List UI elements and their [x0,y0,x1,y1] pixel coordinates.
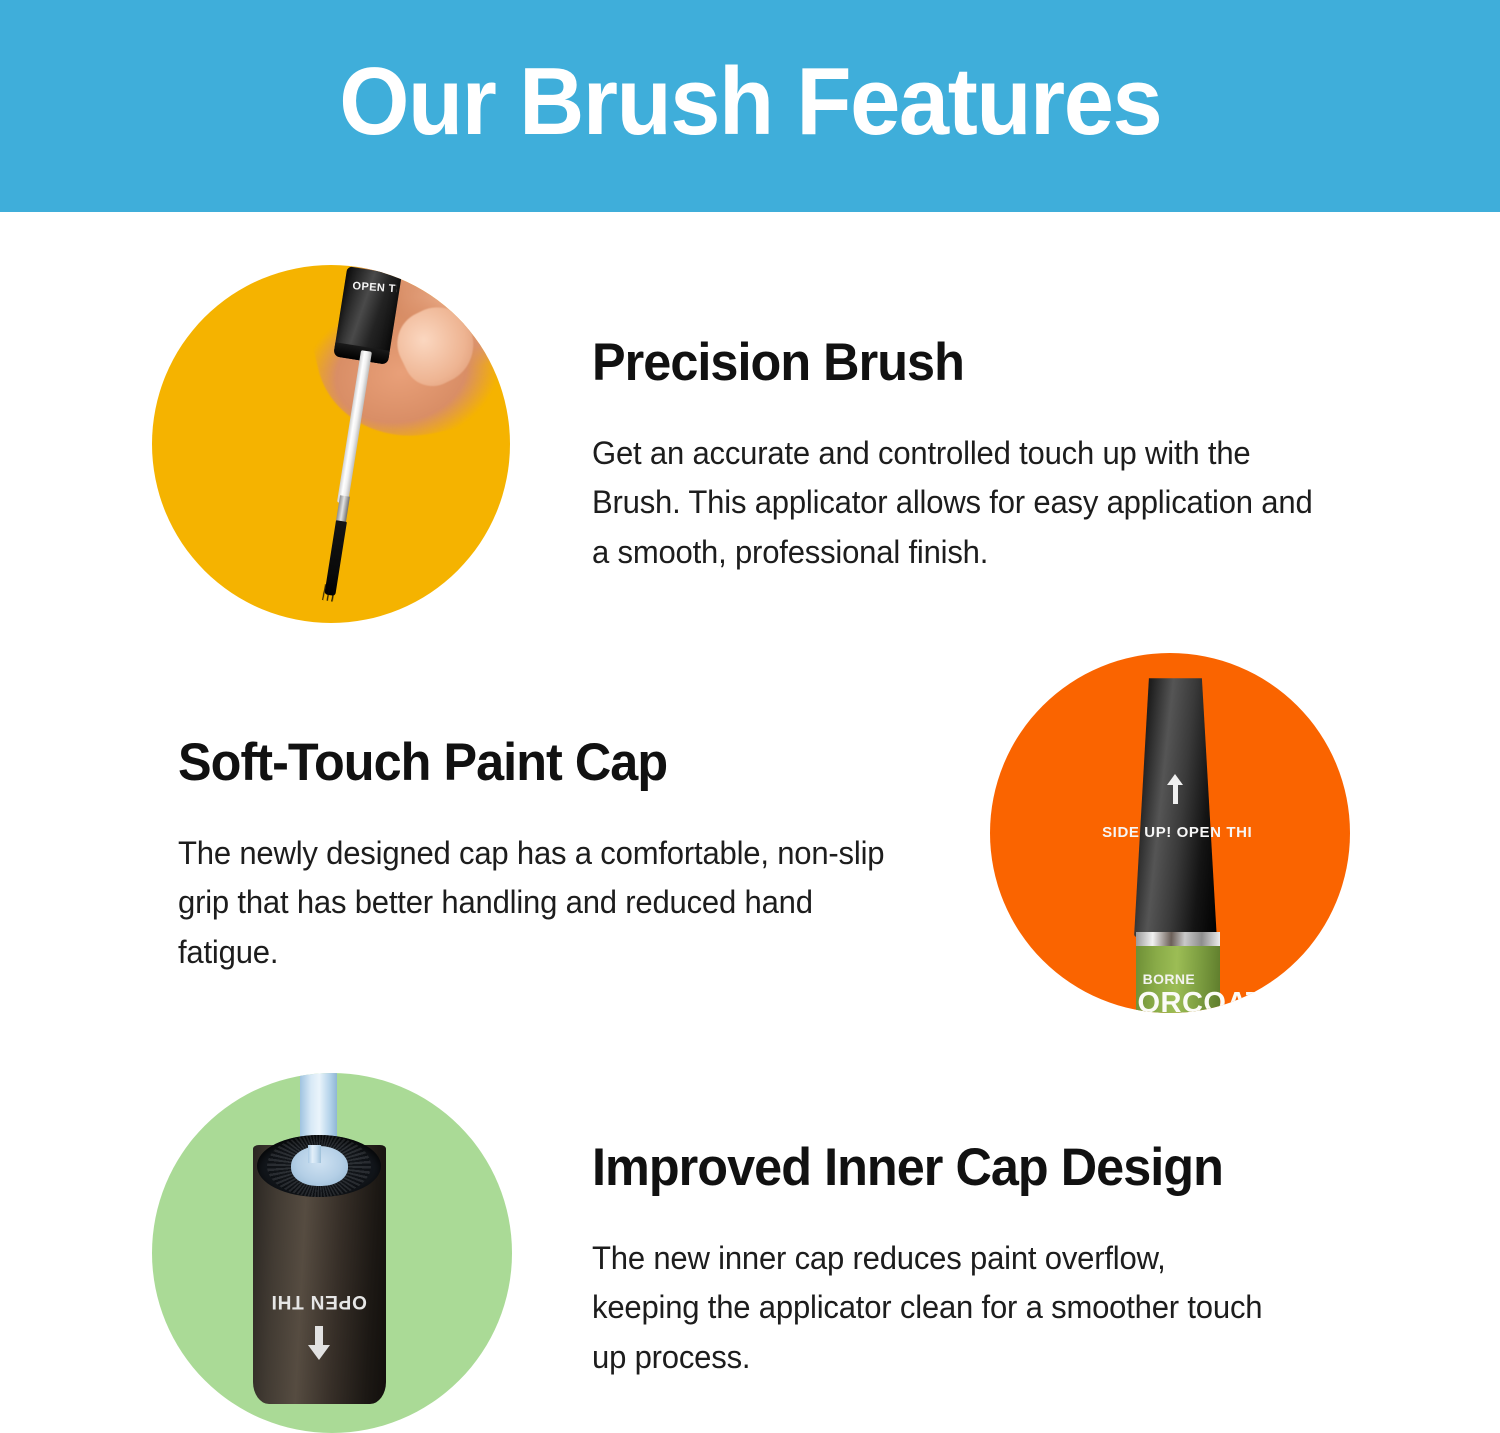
feature-title-precision-brush: Precision Brush [592,335,1314,391]
feature-body-precision-brush: Get an accurate and controlled touch up … [592,429,1329,578]
pen-label-product-text: ORCOAT [1137,987,1264,1013]
brush-applicator-in-hand-photo: OPEN THIS [152,265,510,623]
inverted-cap-body: OPEN THIS [253,1145,386,1404]
feature-title-soft-touch-paint-cap: Soft-Touch Paint Cap [178,735,900,791]
precision-brush-text-block: Precision Brush Get an accurate and cont… [592,335,1352,577]
cap-mouth-opening [257,1135,381,1197]
cap-label-text: OPEN THIS [352,280,397,295]
pen-label-brand-text: BORNE [1143,971,1196,987]
hand-shape [288,265,510,455]
page-header-banner: Our Brush Features [0,0,1500,212]
brush-bristles [325,520,347,596]
feature-body-soft-touch-paint-cap: The newly designed cap has a comfortable… [178,829,907,978]
soft-touch-cap-body [1134,678,1217,937]
inner-cap-design-image-circle: OPEN THIS [152,1073,512,1433]
pen-body-green-label: BORNE ORCOAT [1136,946,1221,1013]
inner-cap-design-photo: OPEN THIS [152,1073,512,1433]
page-title: Our Brush Features [339,54,1161,158]
soft-touch-cap-text-block: Soft-Touch Paint Cap The newly designed … [178,735,938,977]
cap-label-text: SIDE UP! OPEN THI [1098,824,1256,841]
applicator-stem-lower [308,1145,321,1164]
soft-touch-cap-photo: SIDE UP! OPEN THI BORNE ORCOAT [990,653,1350,1013]
feature-title-improved-inner-cap-design: Improved Inner Cap Design [592,1140,1314,1196]
precision-brush-image-circle: OPEN THIS [152,265,510,623]
feature-body-improved-inner-cap-design: The new inner cap reduces paint overflow… [592,1234,1271,1383]
cap-label-text: OPEN THIS [271,1290,367,1312]
brush-features-infographic: Our Brush Features OPEN THIS Precision B… [0,0,1500,1433]
inner-cap-design-text-block: Improved Inner Cap Design The new inner … [592,1140,1352,1382]
soft-touch-cap-image-circle: SIDE UP! OPEN THI BORNE ORCOAT [990,653,1350,1013]
